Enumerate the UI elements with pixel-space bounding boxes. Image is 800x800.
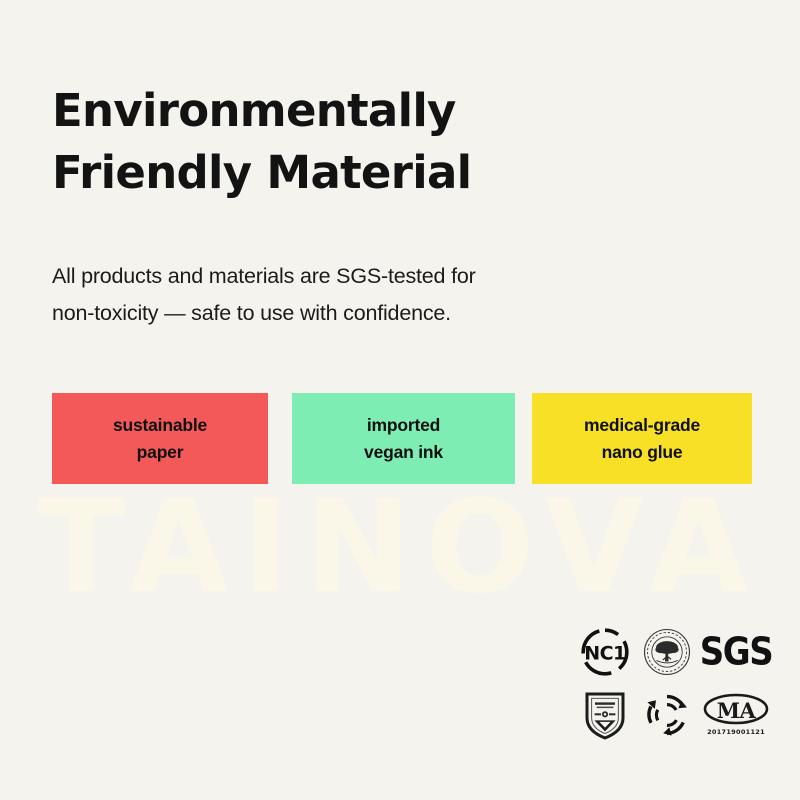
nc1-certification-icon: NC1 [574, 620, 636, 683]
certification-badge-grid: NC1 SGS [574, 620, 774, 746]
cma-certificate-number: 201719001121 [707, 729, 765, 736]
brand-watermark: TAINOVA [0, 484, 800, 612]
chip-imported-vegan-ink: imported vegan ink [292, 393, 515, 484]
page-subtitle: All products and materials are SGS-teste… [52, 258, 672, 332]
chip-label-line-1: medical-grade [584, 412, 700, 439]
shield-certification-icon [574, 683, 636, 746]
poster-canvas: TAINOVA Environmentally Friendly Materia… [0, 0, 800, 800]
tree-seal-certification-icon [636, 620, 698, 683]
page-subtitle-line-1: All products and materials are SGS-teste… [52, 258, 672, 295]
chip-sustainable-paper: sustainable paper [52, 393, 268, 484]
sgs-wordmark: SGS [700, 632, 772, 670]
svg-text:NC1: NC1 [584, 642, 626, 664]
page-title: Environmentally Friendly Material [52, 80, 692, 204]
recycle-arrows-icon [636, 683, 698, 746]
page-subtitle-line-2: non-toxicity — safe to use with confiden… [52, 295, 672, 332]
svg-text:MA: MA [717, 698, 757, 723]
material-chip-group: sustainable paper imported vegan ink med… [52, 393, 752, 484]
chip-label-line-2: paper [137, 439, 184, 466]
chip-medical-grade-nano-glue: medical-grade nano glue [532, 393, 752, 484]
chip-label-line-2: nano glue [602, 439, 683, 466]
page-title-line-1: Environmentally [52, 80, 692, 142]
chip-label-line-2: vegan ink [364, 439, 443, 466]
cma-certification-icon: MA 201719001121 [698, 683, 774, 746]
chip-label-line-1: sustainable [113, 412, 207, 439]
page-title-line-2: Friendly Material [52, 142, 692, 204]
chip-label-line-1: imported [367, 412, 440, 439]
sgs-logo-icon: SGS [698, 620, 774, 683]
